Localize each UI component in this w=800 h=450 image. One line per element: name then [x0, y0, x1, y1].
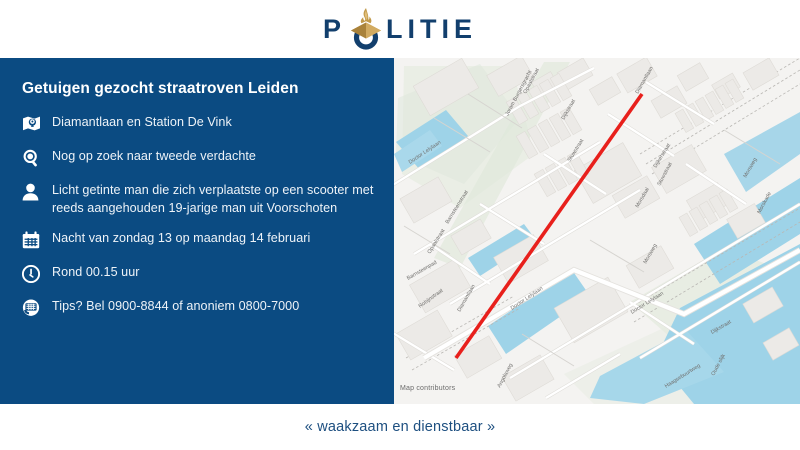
map-canvas: .st { fill:none; stroke:#ffffff; stroke-… — [394, 58, 800, 404]
politie-logo: P LITIE — [323, 7, 477, 51]
magnifier-icon — [22, 149, 48, 169]
map-pin-icon — [22, 115, 48, 135]
page-title: Getuigen gezocht straatroven Leiden — [22, 80, 376, 98]
clock-icon — [22, 265, 48, 285]
info-row-date-text: Nacht van zondag 13 op maandag 14 februa… — [48, 230, 310, 248]
footer: « waakzaam en dienstbaar » — [0, 404, 800, 450]
logo-text-before: P — [323, 16, 346, 43]
info-row-location: Diamantlaan en Station De Vink — [22, 114, 376, 135]
politie-witness-appeal-card: P LITIE Getuigen gezocht straatroven Lei… — [0, 0, 800, 450]
info-row-suspect: Licht getinte man die zich verplaatste o… — [22, 182, 376, 217]
info-row-tips: Tips? Bel 0900-8844 of anoniem 0800-7000 — [22, 298, 376, 319]
info-row-tips-text: Tips? Bel 0900-8844 of anoniem 0800-7000 — [48, 298, 299, 316]
info-row-location-text: Diamantlaan en Station De Vink — [48, 114, 232, 132]
info-panel: Getuigen gezocht straatroven Leiden Diam… — [0, 58, 394, 404]
map-attribution: Map contributors — [400, 385, 455, 392]
politie-flame-book-emblem-icon — [347, 7, 385, 51]
info-row-investigation-text: Nog op zoek naar tweede verdachte — [48, 148, 256, 166]
calendar-icon — [22, 231, 48, 251]
info-row-time: Rond 00.15 uur — [22, 264, 376, 285]
footer-tagline: « waakzaam en dienstbaar » — [305, 419, 496, 435]
info-row-suspect-text: Licht getinte man die zich verplaatste o… — [48, 182, 376, 217]
info-row-time-text: Rond 00.15 uur — [48, 264, 140, 282]
incident-map[interactable]: .st { fill:none; stroke:#ffffff; stroke-… — [394, 58, 800, 404]
logo-text-after: LITIE — [386, 16, 477, 43]
header: P LITIE — [0, 0, 800, 58]
person-icon — [22, 183, 48, 203]
info-row-investigation: Nog op zoek naar tweede verdachte — [22, 148, 376, 169]
info-row-date: Nacht van zondag 13 op maandag 14 februa… — [22, 230, 376, 251]
phone-chat-icon — [22, 299, 48, 319]
